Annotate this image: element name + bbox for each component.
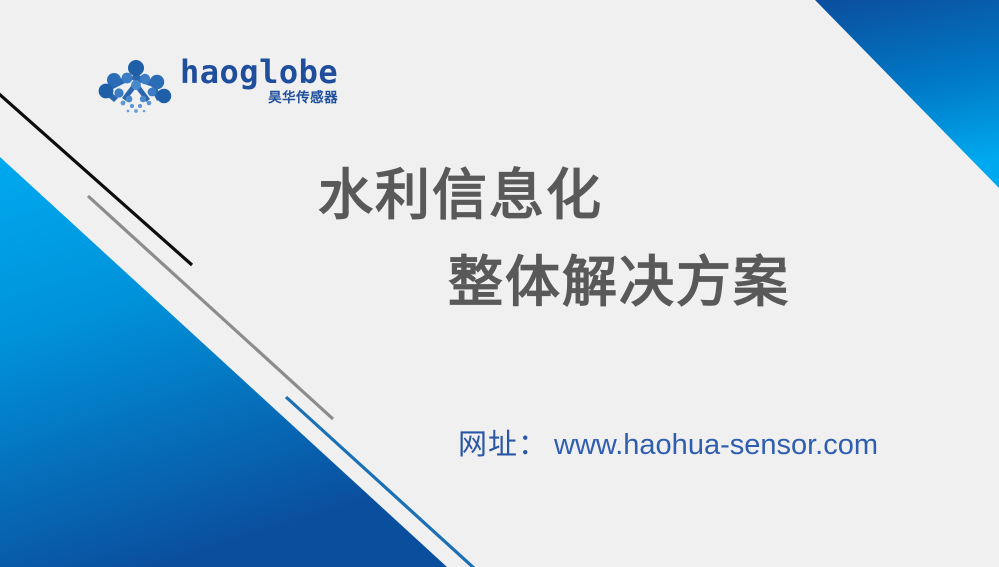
page-title: 水利信息化 整体解决方案 (318, 168, 878, 310)
logo-text-block: haoglobe 昊华传感器 (180, 56, 338, 105)
website-line: 网址： www.haohua-sensor.com (458, 421, 878, 463)
website-url[interactable]: www.haohua-sensor.com (554, 429, 878, 462)
slide-canvas: haoglobe 昊华传感器 水利信息化 整体解决方案 网址： www.haoh… (0, 0, 999, 567)
logo-wordmark: haoglobe (180, 56, 338, 88)
website-label: 网址： (458, 421, 548, 463)
gray-diagonal-line (88, 196, 333, 419)
blue-diagonal-line (286, 397, 475, 567)
network-nodes-icon (98, 58, 172, 116)
company-logo[interactable]: haoglobe 昊华传感器 (98, 56, 328, 118)
title-line-2: 整体解决方案 (318, 255, 878, 310)
top-right-blue-triangle (815, 0, 999, 188)
black-diagonal-line (0, 93, 192, 265)
logo-subtitle: 昊华传感器 (268, 91, 338, 105)
title-line-1: 水利信息化 (318, 168, 878, 223)
